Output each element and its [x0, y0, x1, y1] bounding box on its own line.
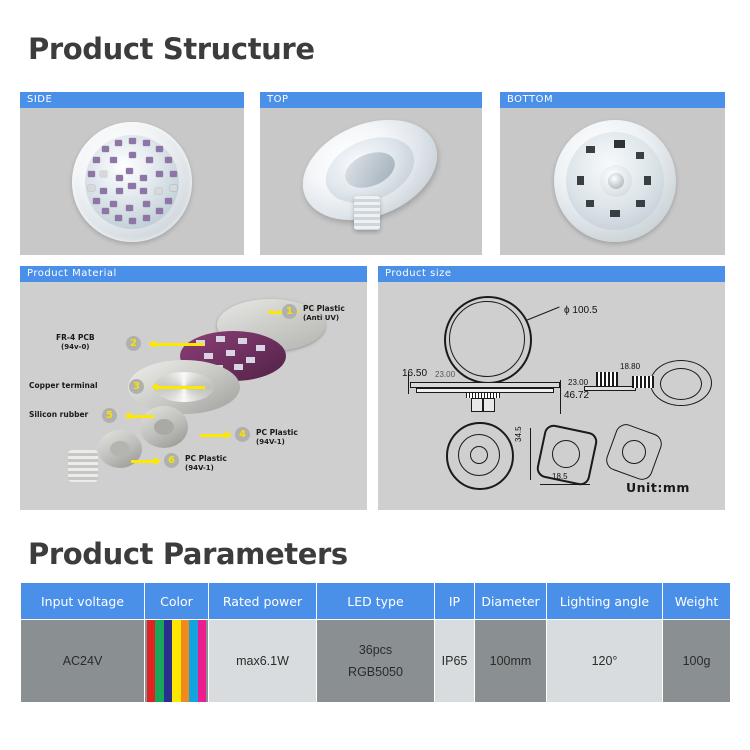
- detail-base-plate: [584, 386, 636, 391]
- detail-lamp-inner: [660, 368, 702, 400]
- dimension-base-width: 23.00: [568, 378, 588, 387]
- cell-ip: IP65: [435, 620, 475, 703]
- color-swatch: [172, 620, 180, 702]
- dimension-stud-height: 18.80: [620, 362, 640, 371]
- top-view-inner-ring: [449, 301, 525, 377]
- dimension-thickness: 16.50: [402, 368, 427, 379]
- dimension-diameter: ϕ 100.5: [564, 305, 597, 316]
- side-view-socket-divider: [482, 399, 484, 412]
- cell-rated-power: max6.1W: [209, 620, 317, 703]
- product-photo-bottom: [500, 108, 725, 255]
- dim-line-nut-width: [540, 484, 590, 485]
- color-swatch: [164, 620, 172, 702]
- material-label-6: PC Plastic (94V-1): [185, 454, 227, 473]
- color-swatch: [198, 620, 206, 702]
- knurled-ring-bore: [622, 440, 646, 464]
- product-size-drawing: ϕ 100.5 16.50 23.00 46.72 18.80 23.00 34…: [378, 282, 725, 510]
- callout-bullet-5: 5: [102, 408, 117, 423]
- color-swatch: [147, 620, 155, 702]
- led-type-qty: 36pcs: [319, 639, 432, 661]
- table-row: AC24V max6.1W 36pcs RGB5050 IP65 100mm 1…: [21, 620, 731, 703]
- dimension-nut-height: 34.5: [514, 426, 523, 442]
- callout-bullet-3: 3: [129, 379, 144, 394]
- page-title-parameters: Product Parameters: [28, 537, 348, 571]
- product-material-diagram: 1 PC Plastic (Anti UV) 2 FR-4 PCB (94v-0…: [20, 282, 367, 510]
- leader-line-diameter: [526, 307, 560, 321]
- cell-lighting-angle: 120°: [547, 620, 663, 703]
- photo-caption-side: SIDE: [20, 92, 244, 108]
- photo-caption-top: TOP: [260, 92, 482, 108]
- table-header-row: Input voltage Color Rated power LED type…: [21, 583, 731, 620]
- material-label-3: Copper terminal: [29, 381, 98, 391]
- cell-led-type: 36pcs RGB5050: [317, 620, 435, 703]
- photo-caption-bottom: BOTTOM: [500, 92, 725, 108]
- color-swatch-strip: [147, 620, 206, 702]
- header-rated-power: Rated power: [209, 583, 317, 620]
- unit-label: Unit:mm: [626, 480, 690, 495]
- part-socket-shape: [68, 450, 98, 482]
- lamp-front-glass-icon: [72, 122, 192, 242]
- product-parameters-table: Input voltage Color Rated power LED type…: [20, 582, 731, 703]
- product-spec-sheet: Product Structure SIDE: [0, 0, 750, 750]
- header-lighting-angle: Lighting angle: [547, 583, 663, 620]
- cell-diameter: 100mm: [475, 620, 547, 703]
- detail-lamp-thread: [632, 376, 654, 388]
- led-type-model: RGB5050: [319, 661, 432, 683]
- header-ip: IP: [435, 583, 475, 620]
- cell-input-voltage: AC24V: [21, 620, 145, 703]
- detail-stud-shape: [596, 372, 618, 386]
- callout-bullet-2: 2: [126, 336, 141, 351]
- product-photo-side: [20, 108, 244, 255]
- color-swatch: [181, 620, 189, 702]
- header-diameter: Diameter: [475, 583, 547, 620]
- callout-bullet-1: 1: [282, 304, 297, 319]
- dimension-thickness-ref: 23.00: [435, 370, 455, 379]
- cell-weight: 100g: [663, 620, 731, 703]
- nut-bore: [552, 440, 580, 468]
- lamp-socket-icon: [354, 196, 380, 230]
- page-title-structure: Product Structure: [28, 32, 315, 66]
- part-washer-shape: [140, 406, 188, 448]
- material-label-4: PC Plastic (94V-1): [256, 428, 298, 447]
- cell-color: [145, 620, 209, 703]
- material-label-1: PC Plastic (Anti UV): [303, 304, 345, 323]
- callout-bullet-6: 6: [164, 453, 179, 468]
- callout-bullet-4: 4: [235, 427, 250, 442]
- product-photo-top: [260, 108, 482, 255]
- dimension-height: 46.72: [564, 390, 589, 401]
- lamp-bottom-body-icon: [554, 120, 676, 242]
- panel-caption-product-size: Product size: [378, 266, 725, 282]
- material-label-2: FR-4 PCB (94v-0): [56, 333, 95, 352]
- panel-caption-product-material: Product Material: [20, 266, 367, 282]
- color-swatch: [155, 620, 163, 702]
- dim-line-height: [560, 380, 561, 414]
- header-led-type: LED type: [317, 583, 435, 620]
- header-color: Color: [145, 583, 209, 620]
- dimension-nut-width: 18.5: [552, 472, 568, 481]
- header-input-voltage: Input voltage: [21, 583, 145, 620]
- lamp-pcb-surface: [85, 135, 179, 229]
- header-weight: Weight: [663, 583, 731, 620]
- material-label-5: Silicon rubber: [29, 410, 88, 420]
- color-swatch: [189, 620, 197, 702]
- bottom-view-center: [470, 446, 488, 464]
- dim-line-nut-height: [530, 428, 531, 480]
